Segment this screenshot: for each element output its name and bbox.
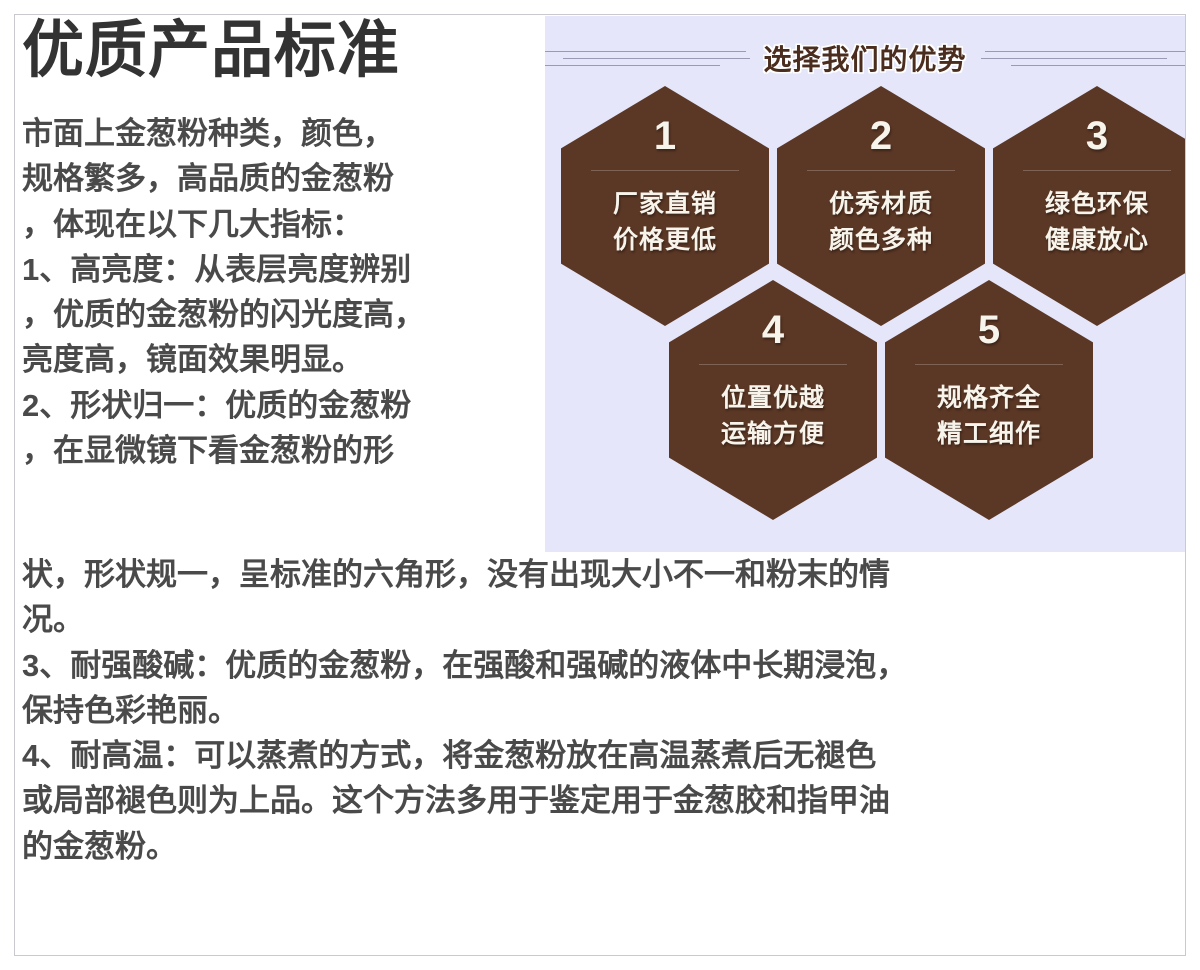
- hexagon-number: 5: [978, 310, 1000, 350]
- advantages-panel-header: 选择我们的优势: [545, 32, 1185, 84]
- advantage-hexagon-5: 5 规格齐全 精工细作: [885, 280, 1093, 520]
- bottom-paragraph-line: 4、耐高温：可以蒸煮的方式，将金葱粉放在高温蒸煮后无褪色: [22, 733, 1182, 778]
- bottom-paragraph-line: 况。: [22, 597, 1182, 642]
- hexagon-label-line2: 价格更低: [613, 223, 717, 259]
- left-paragraph-line: 市面上金葱粉种类，颜色，: [22, 111, 542, 156]
- hexagon-number: 4: [762, 310, 784, 350]
- hexagon-label-line2: 颜色多种: [829, 223, 933, 259]
- hexagon-divider: [591, 170, 739, 171]
- hexagon-divider: [699, 364, 847, 365]
- hexagon-label: 优秀材质 颜色多种: [829, 187, 933, 258]
- left-paragraph-line: ，优质的金葱粉的闪光度高，: [22, 292, 542, 337]
- left-content-column: 优质产品标准 市面上金葱粉种类，颜色， 规格繁多，高品质的金葱粉 ，体现在以下几…: [22, 18, 542, 473]
- bottom-body-text: 状，形状规一，呈标准的六角形，没有出现大小不一和粉末的情 况。 3、耐强酸碱：优…: [22, 552, 1182, 869]
- decorative-rule-right-icon: [981, 47, 1185, 69]
- hexagon-divider: [1023, 170, 1171, 171]
- left-body-text: 市面上金葱粉种类，颜色， 规格繁多，高品质的金葱粉 ，体现在以下几大指标： 1、…: [22, 111, 542, 473]
- bottom-paragraph-line: 的金葱粉。: [22, 824, 1182, 869]
- advantage-hexagon-1: 1 厂家直销 价格更低: [561, 86, 769, 326]
- bottom-paragraph-line: 或局部褪色则为上品。这个方法多用于鉴定用于金葱胶和指甲油: [22, 778, 1182, 823]
- left-paragraph-line: ，在显微镜下看金葱粉的形: [22, 428, 542, 473]
- hexagon-number: 1: [654, 116, 676, 156]
- hexagon-label-line1: 绿色环保: [1045, 187, 1149, 223]
- advantages-panel: 选择我们的优势 1 厂家直销 价格更低 2 优秀材质 颜色多种: [545, 16, 1185, 552]
- hexagon-label: 厂家直销 价格更低: [613, 187, 717, 258]
- hexagon-label-line2: 运输方便: [721, 417, 825, 453]
- bottom-paragraph-line: 状，形状规一，呈标准的六角形，没有出现大小不一和粉末的情: [22, 552, 1182, 597]
- hexagon-label-line2: 健康放心: [1045, 223, 1149, 259]
- left-paragraph-line: 规格繁多，高品质的金葱粉: [22, 156, 542, 201]
- bottom-paragraph-line: 3、耐强酸碱：优质的金葱粉，在强酸和强碱的液体中长期浸泡，: [22, 643, 1182, 688]
- left-paragraph-line: 亮度高，镜面效果明显。: [22, 337, 542, 382]
- product-standards-infographic: 优质产品标准 市面上金葱粉种类，颜色， 规格繁多，高品质的金葱粉 ，体现在以下几…: [0, 0, 1200, 970]
- hexagon-label-line2: 精工细作: [937, 417, 1041, 453]
- page-title: 优质产品标准: [22, 18, 542, 83]
- advantage-hexagon-2: 2 优秀材质 颜色多种: [777, 86, 985, 326]
- left-paragraph-line: 2、形状归一：优质的金葱粉: [22, 383, 542, 428]
- hexagon-grid: 1 厂家直销 价格更低 2 优秀材质 颜色多种 3 绿色环保: [545, 84, 1185, 552]
- bottom-paragraph-line: 保持色彩艳丽。: [22, 688, 1182, 733]
- hexagon-label: 规格齐全 精工细作: [937, 381, 1041, 452]
- hexagon-label: 位置优越 运输方便: [721, 381, 825, 452]
- hexagon-label: 绿色环保 健康放心: [1045, 187, 1149, 258]
- hexagon-divider: [915, 364, 1063, 365]
- left-paragraph-line: ，体现在以下几大指标：: [22, 202, 542, 247]
- hexagon-label-line1: 规格齐全: [937, 381, 1041, 417]
- hexagon-number: 3: [1086, 116, 1108, 156]
- left-paragraph-line: 1、高亮度：从表层亮度辨别: [22, 247, 542, 292]
- decorative-rule-left-icon: [545, 47, 750, 69]
- hexagon-divider: [807, 170, 955, 171]
- advantage-hexagon-4: 4 位置优越 运输方便: [669, 280, 877, 520]
- hexagon-number: 2: [870, 116, 892, 156]
- hexagon-label-line1: 位置优越: [721, 381, 825, 417]
- advantage-hexagon-3: 3 绿色环保 健康放心: [993, 86, 1185, 326]
- advantages-panel-title: 选择我们的优势: [750, 38, 981, 78]
- hexagon-label-line1: 厂家直销: [613, 187, 717, 223]
- hexagon-label-line1: 优秀材质: [829, 187, 933, 223]
